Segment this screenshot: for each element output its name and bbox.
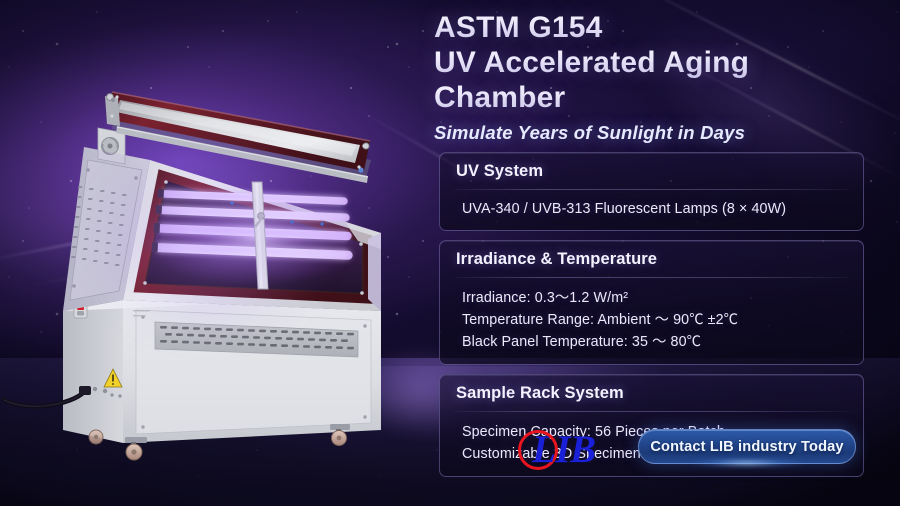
- page-title-line-3: Chamber: [434, 80, 874, 115]
- card-heading: Sample Rack System: [440, 375, 863, 411]
- page-title-line-2: UV Accelerated Aging: [434, 45, 874, 80]
- card-heading: Irradiance & Temperature: [440, 241, 863, 277]
- product-backlight-glow: [30, 90, 390, 390]
- card-heading: UV System: [440, 153, 863, 189]
- contact-cta-button[interactable]: Contact LIB industry Today: [638, 429, 856, 464]
- spec-card-irradiance-temperature: Irradiance & Temperature Irradiance: 0.3…: [439, 240, 864, 365]
- card-line: Temperature Range: Ambient ～ 90℃ ±2℃: [462, 309, 863, 331]
- spec-card-uv-system: UV System UVA-340 / UVB-313 Fluorescent …: [439, 152, 864, 231]
- cta-glow: [669, 458, 825, 468]
- page-subtitle: Simulate Years of Sunlight in Days: [434, 122, 874, 144]
- product-image: [0, 0, 430, 506]
- card-line: Irradiance: 0.3～1.2 W/m²: [462, 287, 863, 309]
- card-line: Black Panel Temperature: 35 ～ 80℃: [462, 331, 863, 353]
- card-body: Irradiance: 0.3～1.2 W/m² Temperature Ran…: [440, 278, 863, 364]
- promo-banner: ASTM G154 UV Accelerated Aging Chamber S…: [0, 0, 900, 506]
- contact-cta-label: Contact LIB industry Today: [650, 439, 843, 455]
- footer-bar: LIB Contact LIB industry Today: [430, 418, 900, 488]
- card-body: UVA-340 / UVB-313 Fluorescent Lamps (8 ×…: [440, 190, 863, 230]
- page-title-line-1: ASTM G154: [434, 10, 874, 45]
- hero-title-block: ASTM G154 UV Accelerated Aging Chamber S…: [434, 10, 874, 144]
- logo-wordmark: LIB: [532, 427, 596, 473]
- content-panel: ASTM G154 UV Accelerated Aging Chamber S…: [430, 0, 900, 506]
- card-line: UVA-340 / UVB-313 Fluorescent Lamps (8 ×…: [462, 199, 863, 219]
- lib-logo: LIB: [516, 426, 622, 474]
